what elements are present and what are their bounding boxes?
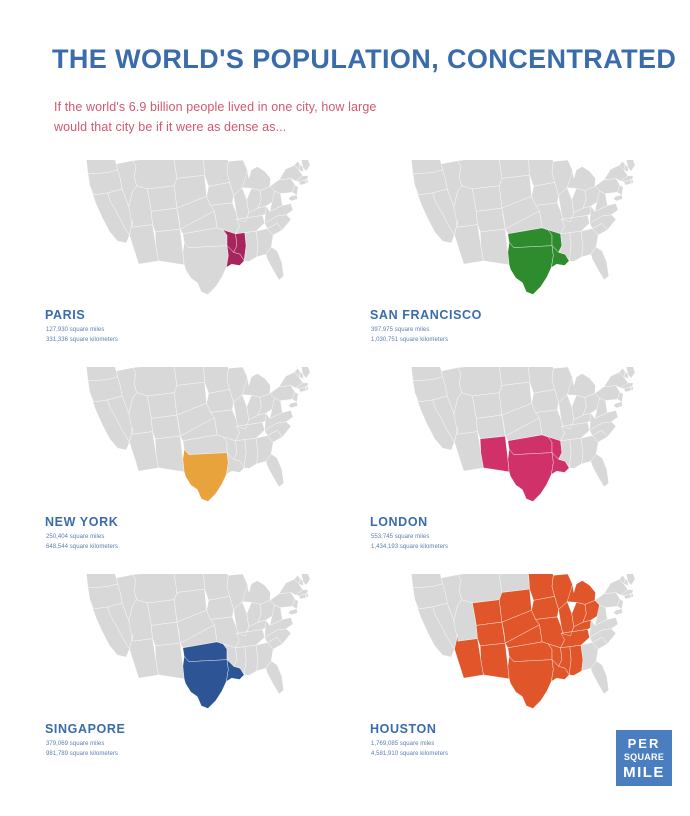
- state-al-highlighted: [569, 645, 583, 675]
- state-mn: [203, 160, 229, 186]
- state-md: [613, 195, 622, 201]
- state-al: [569, 231, 583, 261]
- state-tx-highlighted: [508, 656, 553, 708]
- area-square-miles: 553,745 square miles: [371, 533, 448, 543]
- state-mn: [528, 367, 554, 393]
- us-map: [365, 367, 685, 512]
- state-mt: [133, 574, 177, 603]
- state-md: [288, 195, 297, 201]
- area-square-kilometers: 4,581,910 square kilometers: [371, 750, 448, 760]
- subtitle-line-1: If the world's 6.9 billion people lived …: [54, 97, 376, 117]
- state-co: [476, 208, 505, 232]
- state-ri: [631, 180, 633, 183]
- state-co: [151, 415, 180, 439]
- state-al: [244, 645, 258, 675]
- state-md: [613, 402, 622, 408]
- state-ri: [631, 594, 633, 597]
- state-tx-highlighted: [508, 449, 553, 501]
- city-name: SAN FRANCISCO: [370, 308, 482, 322]
- state-ia: [532, 389, 559, 412]
- state-fl: [591, 661, 609, 694]
- state-tx-highlighted: [183, 656, 228, 708]
- state-co-highlighted: [476, 622, 505, 646]
- area-stats: 397,975 square miles1,030,751 square kil…: [371, 326, 448, 345]
- logo-line-per: PER: [620, 736, 668, 751]
- state-md: [288, 609, 297, 615]
- state-mt: [133, 367, 177, 396]
- city-name: SINGAPORE: [45, 722, 125, 736]
- state-tx-highlighted: [183, 449, 228, 501]
- state-nm-highlighted: [480, 643, 509, 679]
- state-nm: [155, 643, 184, 679]
- area-square-kilometers: 1,434,193 square kilometers: [371, 543, 448, 553]
- logo-line-mile: MILE: [620, 764, 668, 781]
- state-co: [151, 208, 180, 232]
- state-mt: [458, 367, 502, 396]
- area-square-miles: 379,069 square miles: [46, 740, 118, 750]
- state-ri: [306, 180, 308, 183]
- state-nm-highlighted: [480, 436, 509, 472]
- area-square-miles: 1,769,085 square miles: [371, 740, 448, 750]
- page-title: THE WORLD'S POPULATION, CONCENTRATED: [52, 44, 676, 75]
- state-wy-highlighted: [472, 600, 502, 626]
- map-panel-new-york: NEW YORK250,404 square miles648,544 squa…: [40, 367, 360, 567]
- state-tx: [183, 242, 228, 294]
- state-mt: [458, 160, 502, 189]
- state-nm: [155, 229, 184, 265]
- page-subtitle: If the world's 6.9 billion people lived …: [54, 97, 376, 137]
- area-square-kilometers: 1,030,751 square kilometers: [371, 336, 448, 346]
- state-ri: [306, 594, 308, 597]
- area-square-miles: 127,930 square miles: [46, 326, 118, 336]
- state-mn: [203, 574, 229, 600]
- state-wy: [147, 393, 177, 419]
- us-map: [40, 367, 360, 512]
- state-wy: [472, 393, 502, 419]
- area-square-kilometers: 648,544 square kilometers: [46, 543, 118, 553]
- area-square-miles: 250,404 square miles: [46, 533, 118, 543]
- state-wy: [472, 186, 502, 212]
- infographic-page: THE WORLD'S POPULATION, CONCENTRATED If …: [0, 0, 690, 816]
- state-fl: [591, 247, 609, 280]
- state-ri: [631, 387, 633, 390]
- state-co: [476, 415, 505, 439]
- state-mt: [458, 574, 502, 603]
- city-name: NEW YORK: [45, 515, 118, 529]
- state-mt: [133, 160, 177, 189]
- state-fl: [266, 247, 284, 280]
- per-square-mile-logo: PER SQUARE MILE: [616, 730, 672, 786]
- area-stats: 250,404 square miles648,544 square kilom…: [46, 533, 118, 552]
- map-panel-san-francisco: SAN FRANCISCO397,975 square miles1,030,7…: [365, 160, 685, 360]
- state-nm: [480, 229, 509, 265]
- map-panel-paris: PARIS127,930 square miles331,336 square …: [40, 160, 360, 360]
- state-ri: [306, 387, 308, 390]
- state-ia: [532, 182, 559, 205]
- state-mn: [528, 160, 554, 186]
- state-md: [613, 609, 622, 615]
- area-stats: 127,930 square miles331,336 square kilom…: [46, 326, 118, 345]
- state-ia-highlighted: [532, 596, 559, 619]
- state-tx-highlighted: [508, 242, 553, 294]
- logo-line-square: SQUARE: [620, 751, 668, 764]
- subtitle-line-2: would that city be if it were as dense a…: [54, 117, 376, 137]
- state-fl: [591, 454, 609, 487]
- area-square-kilometers: 981,789 square kilometers: [46, 750, 118, 760]
- state-al: [244, 438, 258, 468]
- area-square-miles: 397,975 square miles: [371, 326, 448, 336]
- area-stats: 379,069 square miles981,789 square kilom…: [46, 740, 118, 759]
- state-ia: [207, 182, 234, 205]
- area-square-kilometers: 331,336 square kilometers: [46, 336, 118, 346]
- state-md: [288, 402, 297, 408]
- us-map: [365, 160, 685, 305]
- map-panel-singapore: SINGAPORE379,069 square miles981,789 squ…: [40, 574, 360, 774]
- state-fl: [266, 661, 284, 694]
- area-stats: 553,745 square miles1,434,193 square kil…: [371, 533, 448, 552]
- city-name: PARIS: [45, 308, 85, 322]
- state-nm: [155, 436, 184, 472]
- city-name: LONDON: [370, 515, 428, 529]
- map-panel-london: LONDON553,745 square miles1,434,193 squa…: [365, 367, 685, 567]
- us-map: [40, 574, 360, 719]
- state-fl: [266, 454, 284, 487]
- state-al: [569, 438, 583, 468]
- us-map: [365, 574, 685, 719]
- state-al: [244, 231, 258, 261]
- state-mn: [203, 367, 229, 393]
- state-wy: [147, 186, 177, 212]
- us-map: [40, 160, 360, 305]
- state-ia: [207, 389, 234, 412]
- state-ia: [207, 596, 234, 619]
- state-mn-highlighted: [528, 574, 554, 600]
- city-name: HOUSTON: [370, 722, 436, 736]
- area-stats: 1,769,085 square miles4,581,910 square k…: [371, 740, 448, 759]
- state-co: [151, 622, 180, 646]
- state-wy: [147, 600, 177, 626]
